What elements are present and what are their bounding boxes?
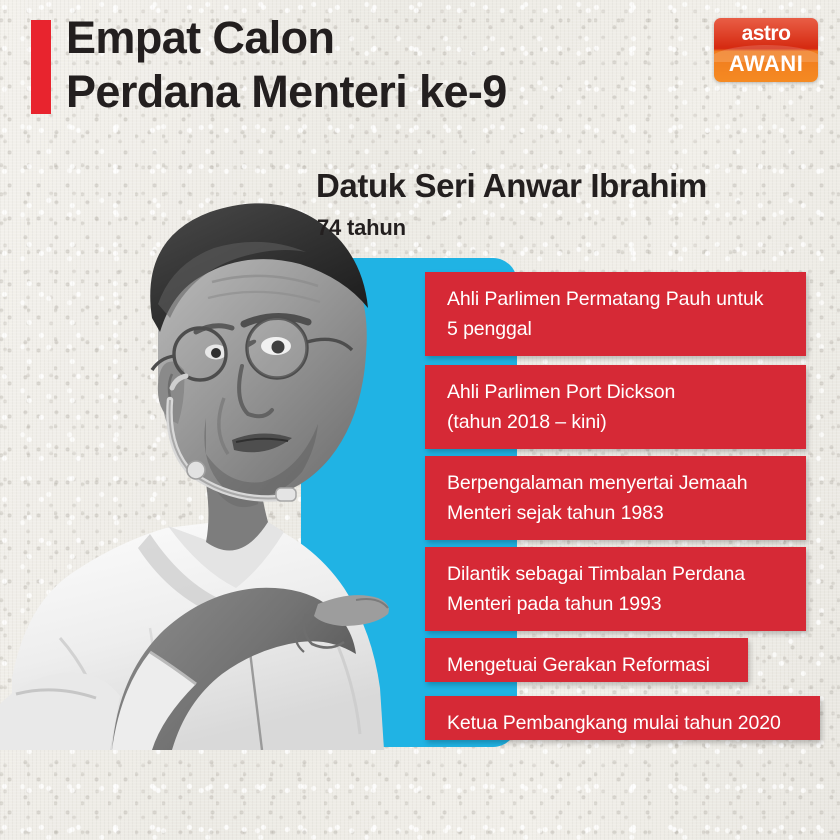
fact-line: Dilantik sebagai Timbalan Perdana [447, 560, 788, 590]
astro-awani-logo: astro AWANI [714, 18, 818, 82]
fact-box: Ahli Parlimen Permatang Pauh untuk 5 pen… [425, 272, 806, 356]
fact-line: Berpengalaman menyertai Jemaah [447, 469, 788, 499]
fact-line: Menteri sejak tahun 1983 [447, 499, 788, 529]
page-title-line-1: Empat Calon [66, 12, 334, 63]
fact-line: Ahli Parlimen Permatang Pauh untuk [447, 285, 788, 315]
headline-accent-bar [31, 20, 51, 114]
fact-line: Ketua Pembangkang mulai tahun 2020 [447, 709, 802, 739]
subject-portrait [0, 118, 420, 750]
fact-box: Ketua Pembangkang mulai tahun 2020 [425, 696, 820, 740]
page-title-line-2: Perdana Menteri ke-9 [66, 65, 686, 119]
page-title: Empat Calon Perdana Menteri ke-9 [66, 11, 686, 118]
fact-line: Ahli Parlimen Port Dickson [447, 378, 788, 408]
fact-line: Mengetuai Gerakan Reformasi [447, 651, 730, 681]
fact-box: Mengetuai Gerakan Reformasi [425, 638, 748, 682]
fact-line: Menteri pada tahun 1993 [447, 590, 788, 620]
logo-brand-awani: AWANI [714, 53, 818, 75]
fact-box: Dilantik sebagai Timbalan Perdana Menter… [425, 547, 806, 631]
logo-brand-astro: astro [714, 23, 818, 44]
subject-age: 74 tahun [317, 216, 406, 240]
fact-box: Ahli Parlimen Port Dickson (tahun 2018 –… [425, 365, 806, 449]
fact-line: 5 penggal [447, 315, 788, 345]
fact-box: Berpengalaman menyertai Jemaah Menteri s… [425, 456, 806, 540]
fact-line: (tahun 2018 – kini) [447, 408, 788, 438]
subject-name: Datuk Seri Anwar Ibrahim [316, 168, 707, 204]
infographic-poster: Empat Calon Perdana Menteri ke-9 astro A… [0, 0, 840, 840]
